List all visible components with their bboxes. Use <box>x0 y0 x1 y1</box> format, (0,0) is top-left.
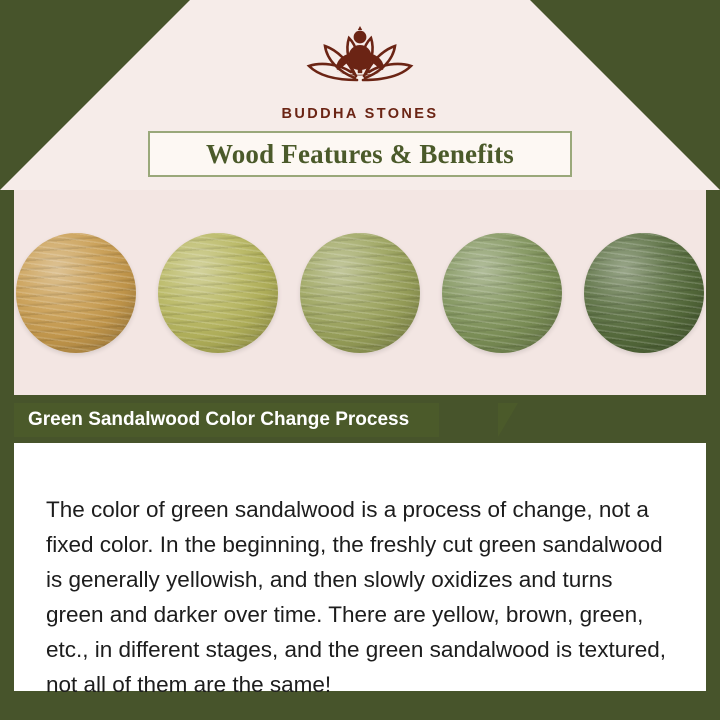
wood-bead-stage-2 <box>158 233 278 353</box>
lotus-buddha-icon <box>285 18 435 100</box>
section-label-tail <box>498 403 518 437</box>
wood-bead-stage-5 <box>584 233 704 353</box>
page-title: Wood Features & Benefits <box>206 139 514 170</box>
wood-bead-stage-4 <box>442 233 562 353</box>
bead-photo-strip <box>14 190 706 395</box>
section-label-text: Green Sandalwood Color Change Process <box>28 409 409 431</box>
infographic-page: BUDDHA STONES Wood Features & Benefits <box>0 0 720 720</box>
top-banner: BUDDHA STONES Wood Features & Benefits <box>0 0 720 190</box>
wood-bead-stage-1 <box>16 233 136 353</box>
bead-swatch-list <box>14 233 706 353</box>
wood-bead-stage-3 <box>300 233 420 353</box>
headline-banner: Wood Features & Benefits <box>148 131 572 177</box>
brand-name: BUDDHA STONES <box>0 106 720 122</box>
description-text: The color of green sandalwood is a proce… <box>46 492 676 702</box>
description-panel: The color of green sandalwood is a proce… <box>14 443 706 691</box>
section-label-bar: Green Sandalwood Color Change Process <box>14 403 439 437</box>
brand-logo: BUDDHA STONES <box>0 18 720 122</box>
